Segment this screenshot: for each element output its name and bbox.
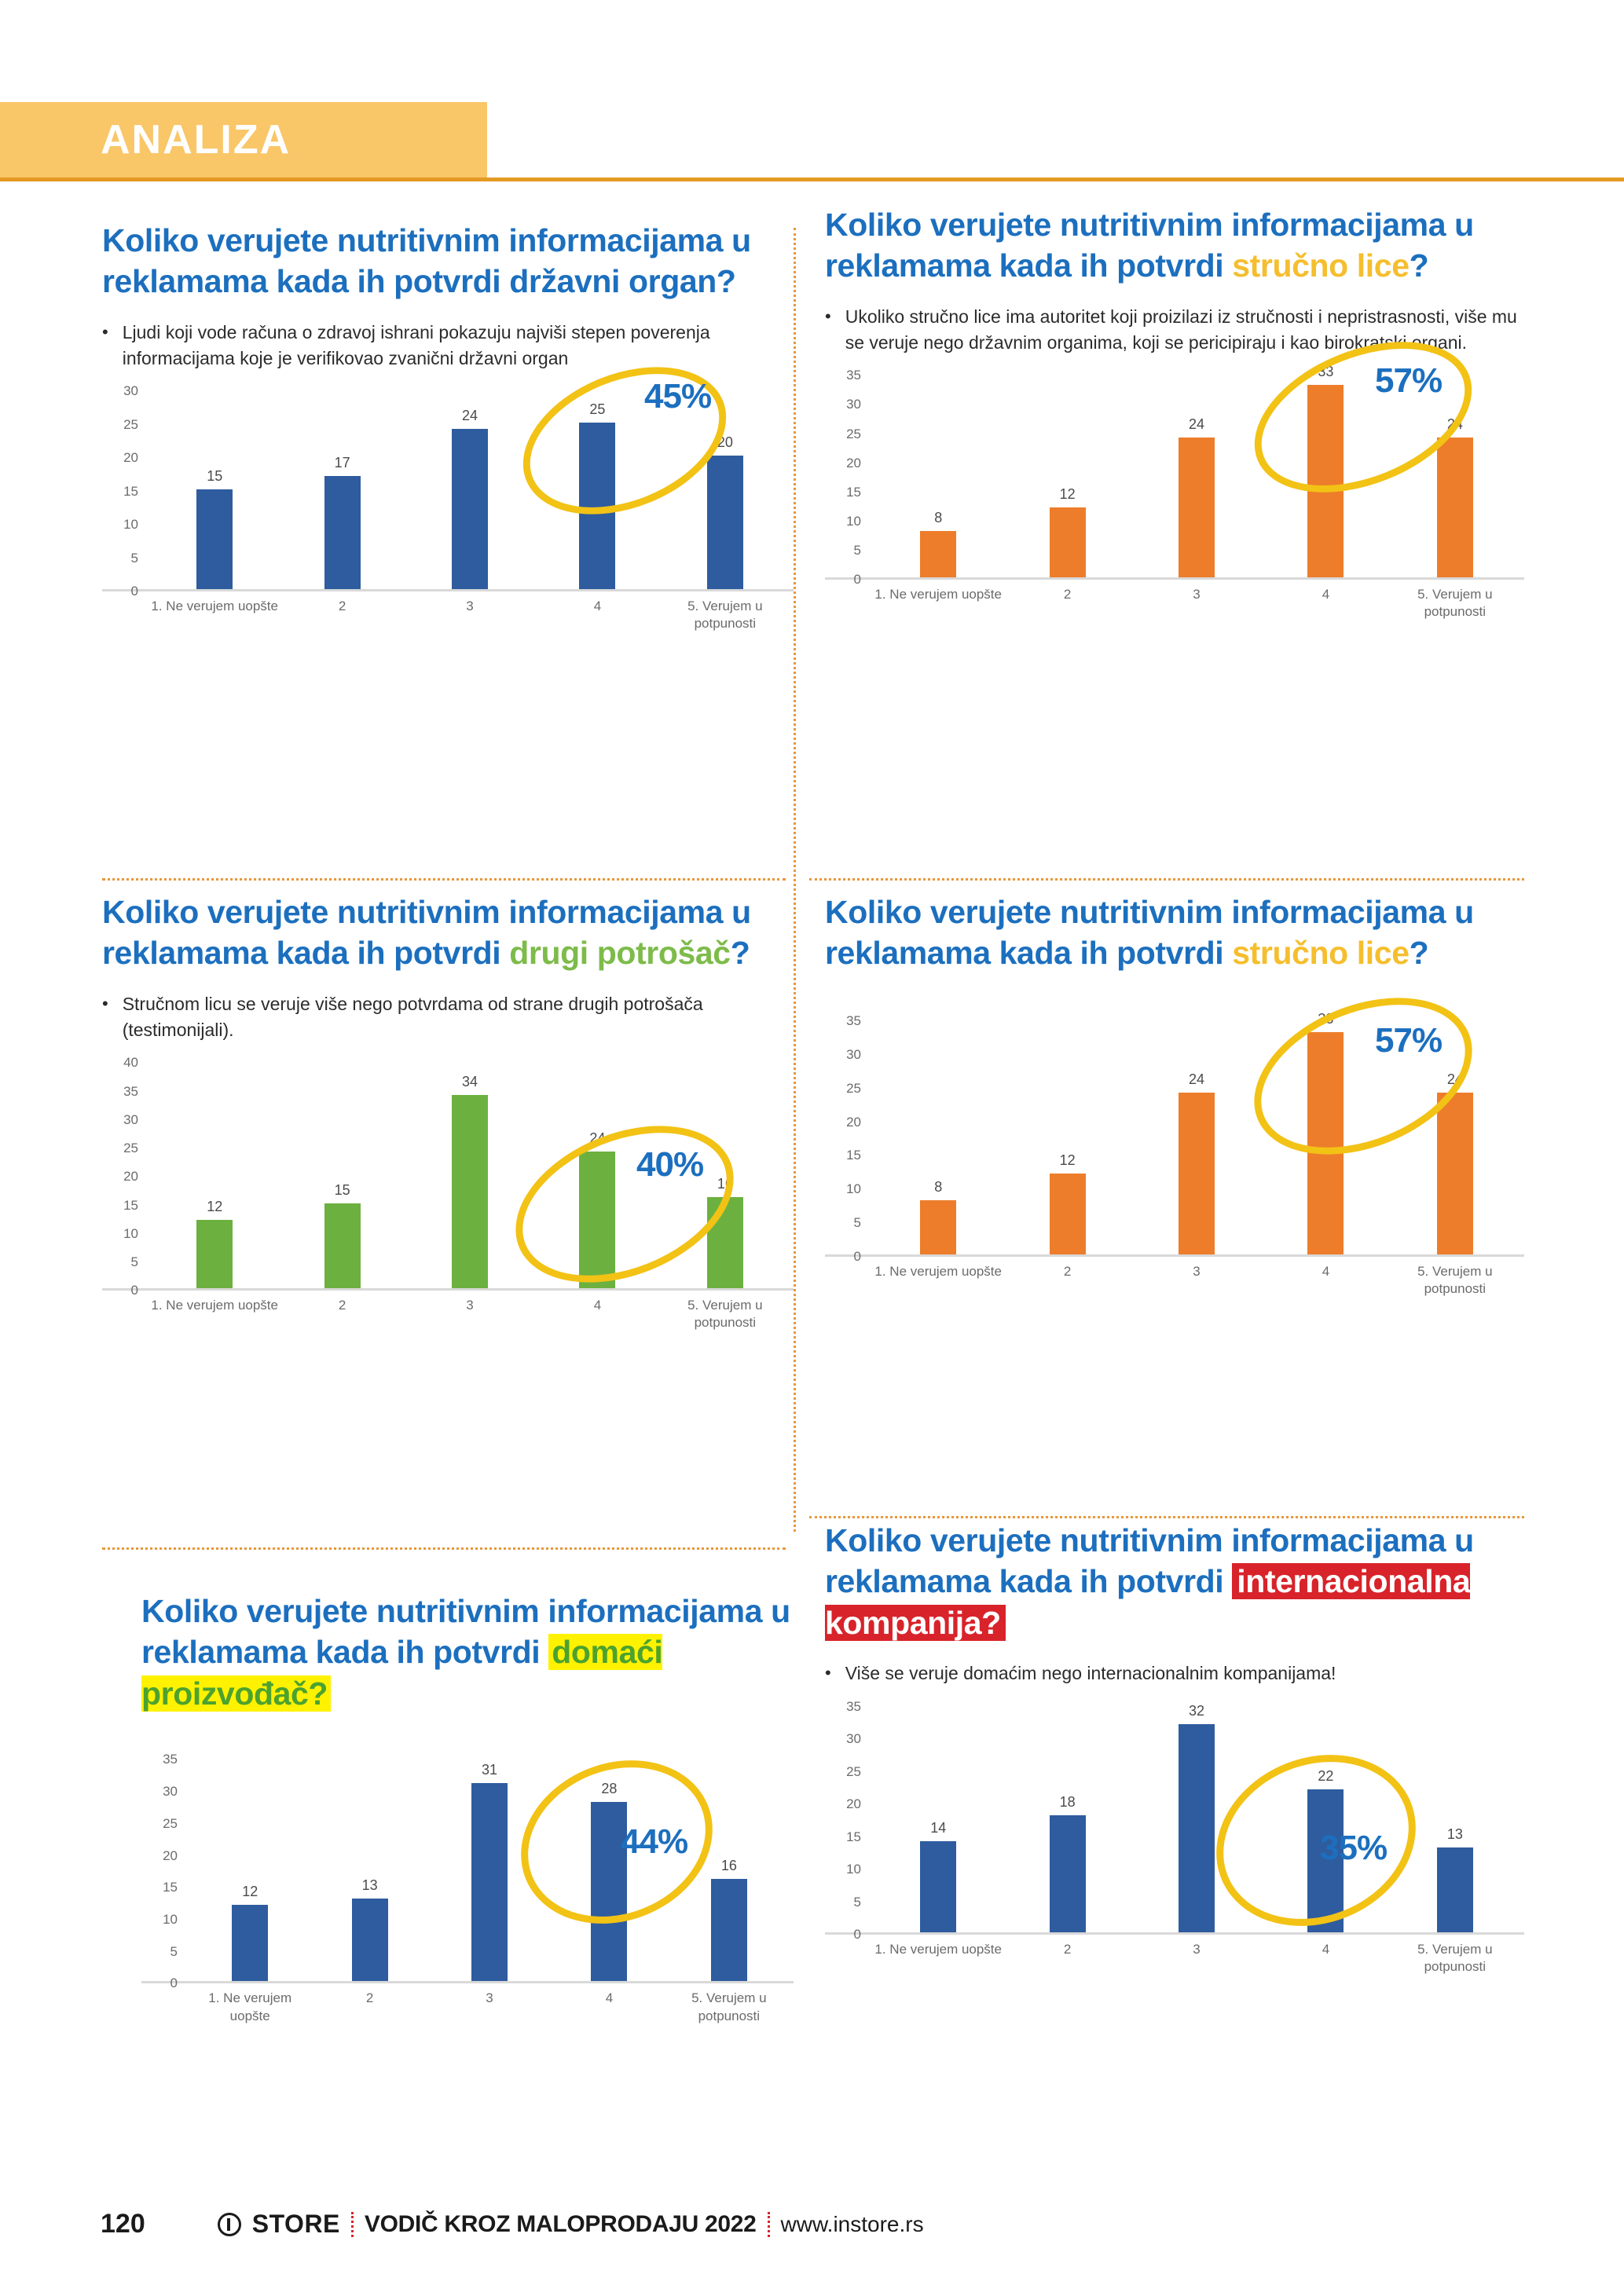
footer-guide-text: VODIČ KROZ MALOPRODAJU 2022 [365, 2211, 757, 2238]
y-axis-tick-label: 0 [854, 1249, 861, 1265]
bar-group[interactable]: 20 [662, 391, 789, 589]
bar-group[interactable]: 15 [151, 391, 278, 589]
chart-1-bars: 1517242520 [151, 391, 789, 589]
x-axis-tick-label: 2 [1003, 1263, 1131, 1298]
x-axis-tick-label: 5. Verujem u potpunosti [669, 1990, 789, 2024]
bar[interactable] [196, 489, 233, 590]
y-axis-tick-label: 25 [123, 417, 138, 433]
y-axis-tick-label: 0 [854, 572, 861, 588]
chart-2-plot: 05101520253035 812243324 [825, 375, 1524, 580]
x-axis-tick-label: 3 [1132, 586, 1261, 621]
page-title: ANALIZA [101, 116, 291, 163]
bar-value-label: 28 [601, 1781, 617, 1797]
bar[interactable] [324, 1203, 361, 1289]
y-axis-tick-label: 30 [846, 1731, 861, 1747]
charts-grid: Koliko verujete nutritivnim informacijam… [102, 220, 1524, 2168]
bar-group[interactable]: 13 [1391, 1707, 1520, 1932]
x-axis-tick-label: 1. Ne verujem uopšte [151, 1297, 278, 1331]
x-axis-tick-label: 4 [533, 1297, 661, 1331]
y-axis-tick-label: 5 [854, 1895, 861, 1910]
bar-group[interactable]: 34 [406, 1063, 533, 1288]
bar-group[interactable]: 17 [278, 391, 405, 589]
chart-5-bars: 1213312816 [190, 1760, 789, 1981]
chart-4-y-axis: 05101520253035 [825, 1021, 869, 1254]
chart-5-percent-annotation: 44% [621, 1822, 687, 1862]
y-axis-tick-label: 10 [163, 1912, 178, 1928]
chart-5-plot: 05101520253035 1213312816 [141, 1760, 794, 1983]
y-axis-tick-label: 10 [846, 1862, 861, 1877]
chart-6-bars: 1418322213 [874, 1707, 1520, 1932]
chart-2-y-axis: 05101520253035 [825, 375, 869, 577]
bar[interactable] [920, 531, 956, 577]
bar-value-label: 17 [335, 455, 350, 471]
bar-value-label: 22 [1318, 1768, 1333, 1785]
bar[interactable] [1179, 1093, 1215, 1254]
y-axis-tick-label: 30 [846, 397, 861, 412]
bar[interactable] [1437, 1093, 1473, 1254]
bar-value-label: 14 [930, 1820, 946, 1836]
x-axis-tick-label: 2 [1003, 586, 1131, 621]
column-separator [794, 228, 796, 1532]
x-axis-tick-label: 4 [1261, 1941, 1390, 1976]
bullet-dot-icon: • [825, 304, 831, 355]
x-axis-tick-label: 2 [310, 1990, 429, 2024]
bar[interactable] [707, 1197, 743, 1288]
bar[interactable] [1179, 1724, 1215, 1932]
bar-group[interactable]: 8 [874, 1021, 1003, 1254]
bar[interactable] [1437, 1847, 1473, 1932]
bar[interactable] [579, 423, 615, 590]
y-axis-tick-label: 20 [163, 1848, 178, 1864]
y-axis-tick-label: 20 [846, 1796, 861, 1812]
chart-6-bullet: • Više se veruje domaćim nego internacio… [825, 1661, 1524, 1686]
bar-value-label: 15 [335, 1182, 350, 1199]
bullet-dot-icon: • [102, 320, 108, 371]
bar-value-label: 24 [462, 408, 478, 424]
chart-1: 051015202530 1517242520 1. Ne verujem uo… [102, 391, 794, 627]
bar[interactable] [1050, 507, 1086, 577]
chart-1-percent-annotation: 45% [644, 377, 711, 416]
x-axis-tick-label: 3 [406, 598, 533, 632]
chart-5-y-axis: 05101520253035 [141, 1760, 185, 1981]
x-axis-tick-label: 1. Ne verujem uopšte [874, 1941, 1003, 1976]
y-axis-tick-label: 15 [123, 1198, 138, 1214]
bar[interactable] [452, 1095, 488, 1289]
bar-group[interactable]: 24 [1391, 375, 1520, 577]
x-axis-tick-label: 2 [278, 1297, 405, 1331]
bar[interactable] [196, 1220, 233, 1288]
x-axis-tick-label: 5. Verujem u potpunosti [1391, 1941, 1520, 1976]
chart-panel-3: Koliko verujete nutritivnim informacijam… [102, 892, 794, 1567]
section-header-band: ANALIZA [0, 102, 487, 178]
x-axis-tick-label: 3 [406, 1297, 533, 1331]
y-axis-tick-label: 35 [163, 1752, 178, 1767]
y-axis-tick-label: 10 [846, 1181, 861, 1197]
bar-group[interactable]: 24 [1132, 375, 1261, 577]
bar-value-label: 18 [1060, 1794, 1076, 1811]
y-axis-tick-label: 30 [123, 1112, 138, 1128]
bar[interactable] [1050, 1174, 1086, 1254]
bar-group[interactable]: 16 [669, 1760, 789, 1981]
chart-4-percent-annotation: 57% [1375, 1021, 1442, 1060]
chart-5-title: Koliko verujete nutritivnim informacijam… [141, 1591, 794, 1714]
bar-value-label: 8 [934, 1179, 942, 1196]
x-axis-tick-label: 4 [549, 1990, 669, 2024]
y-axis-tick-label: 30 [163, 1784, 178, 1800]
bar[interactable] [324, 476, 361, 590]
y-axis-tick-label: 5 [170, 1944, 178, 1960]
bar-value-label: 24 [1189, 416, 1204, 433]
y-axis-tick-label: 15 [846, 1829, 861, 1845]
chart-3: 0510152025303540 1215342416 1. Ne veruje… [102, 1063, 794, 1322]
bar-group[interactable]: 8 [874, 375, 1003, 577]
chart-3-percent-annotation: 40% [636, 1145, 703, 1185]
bar-value-label: 24 [1447, 416, 1463, 433]
chart-2-bars: 812243324 [874, 375, 1520, 577]
chart-4: 05101520253035 812243324 1. Ne verujem u… [825, 1021, 1524, 1280]
row-separator-top-right [809, 878, 1524, 881]
y-axis-tick-label: 0 [170, 1976, 178, 1991]
x-axis-tick-label: 3 [430, 1990, 549, 2024]
y-axis-tick-label: 0 [131, 1283, 138, 1298]
y-axis-tick-label: 10 [123, 1226, 138, 1242]
x-axis-tick-label: 5. Verujem u potpunosti [1391, 586, 1520, 621]
bar-value-label: 24 [589, 1130, 605, 1147]
y-axis-tick-label: 25 [846, 1764, 861, 1780]
bar-value-label: 16 [717, 1176, 733, 1192]
bar[interactable] [920, 1841, 956, 1932]
bar-group[interactable]: 12 [1003, 375, 1131, 577]
bar-group[interactable]: 33 [1261, 375, 1390, 577]
bar-group[interactable]: 12 [151, 1063, 278, 1288]
bar-group[interactable]: 15 [278, 1063, 405, 1288]
x-axis-tick-label: 1. Ne verujem uopšte [874, 1263, 1003, 1298]
bar-value-label: 33 [1318, 364, 1333, 380]
y-axis-tick-label: 5 [131, 1254, 138, 1270]
x-axis-tick-label: 4 [533, 598, 661, 632]
chart-panel-1: Koliko verujete nutritivnim informacijam… [102, 220, 794, 864]
chart-3-y-axis: 0510152025303540 [102, 1063, 146, 1288]
y-axis-tick-label: 20 [123, 450, 138, 466]
y-axis-tick-label: 0 [854, 1927, 861, 1943]
bar-value-label: 24 [1189, 1071, 1204, 1088]
chart-1-x-labels: 1. Ne verujem uopšte2345. Verujem u potp… [151, 598, 789, 632]
bar-value-label: 13 [362, 1877, 378, 1894]
x-axis-tick-label: 3 [1132, 1941, 1261, 1976]
chart-6-title: Koliko verujete nutritivnim informacijam… [825, 1520, 1524, 1643]
chart-3-bullet: • Stručnom licu se veruje više nego potv… [102, 991, 794, 1042]
bar-value-label: 16 [721, 1858, 737, 1874]
bar-group[interactable]: 24 [406, 391, 533, 589]
x-axis-tick-label: 5. Verujem u potpunosti [662, 598, 789, 632]
bar-group[interactable]: 32 [1132, 1707, 1261, 1932]
bar-value-label: 24 [1447, 1071, 1463, 1088]
bar-group[interactable]: 18 [1003, 1707, 1131, 1932]
bullet-dot-icon: • [825, 1661, 831, 1686]
y-axis-tick-label: 20 [846, 1115, 861, 1130]
bar-group[interactable]: 12 [1003, 1021, 1131, 1254]
y-axis-tick-label: 15 [846, 485, 861, 500]
y-axis-tick-label: 10 [846, 514, 861, 529]
bar-group[interactable]: 14 [874, 1707, 1003, 1932]
bar-group[interactable]: 24 [1132, 1021, 1261, 1254]
chart-panel-4: Koliko verujete nutritivnim informacijam… [825, 892, 1524, 1567]
bar[interactable] [1437, 438, 1473, 577]
bar-value-label: 12 [1060, 486, 1076, 503]
bar-value-label: 12 [207, 1199, 222, 1215]
chart-1-title: Koliko verujete nutritivnim informacijam… [102, 220, 794, 302]
chart-4-title: Koliko verujete nutritivnim informacijam… [825, 892, 1524, 974]
y-axis-tick-label: 15 [123, 484, 138, 500]
bar[interactable] [1050, 1815, 1086, 1932]
chart-6-y-axis: 05101520253035 [825, 1707, 869, 1932]
bar-value-label: 8 [934, 510, 942, 526]
chart-panel-6: Koliko verujete nutritivnim informacijam… [825, 1520, 1524, 2172]
chart-5: 05101520253035 1213312816 1. Ne verujem … [141, 1760, 794, 2019]
bar[interactable] [1179, 438, 1215, 577]
chart-2: 05101520253035 812243324 1. Ne verujem u… [825, 375, 1524, 611]
bar-value-label: 13 [1447, 1826, 1463, 1843]
chart-6-plot: 05101520253035 1418322213 [825, 1707, 1524, 1935]
chart-5-x-labels: 1. Ne verujem uopšte2345. Verujem u potp… [190, 1990, 789, 2024]
chart-6-percent-annotation: 35% [1320, 1829, 1387, 1868]
footer-url: www.instore.rs [781, 2212, 924, 2237]
y-axis-tick-label: 15 [846, 1148, 861, 1163]
chart-1-plot: 051015202530 1517242520 [102, 391, 794, 591]
y-axis-tick-label: 25 [846, 1081, 861, 1097]
bar-value-label: 31 [482, 1762, 497, 1778]
y-axis-tick-label: 35 [846, 368, 861, 383]
y-axis-tick-label: 25 [846, 427, 861, 442]
y-axis-tick-label: 20 [123, 1169, 138, 1185]
bar-value-label: 25 [589, 401, 605, 418]
chart-3-title: Koliko verujete nutritivnim informacijam… [102, 892, 794, 974]
y-axis-tick-label: 5 [131, 551, 138, 566]
bar[interactable] [232, 1905, 268, 1982]
y-axis-tick-label: 10 [123, 517, 138, 533]
page-footer: 120 STORE VODIČ KROZ MALOPRODAJU 2022 ww… [0, 2209, 1624, 2239]
x-axis-tick-label: 5. Verujem u potpunosti [1391, 1263, 1520, 1298]
y-axis-tick-label: 40 [123, 1055, 138, 1071]
header-divider-rule [0, 178, 1624, 181]
y-axis-tick-label: 35 [846, 1013, 861, 1029]
x-axis-tick-label: 1. Ne verujem uopšte [874, 586, 1003, 621]
x-axis-tick-label: 1. Ne verujem uopšte [151, 598, 278, 632]
chart-6: 05101520253035 1418322213 1. Ne verujem … [825, 1707, 1524, 1966]
bar-group[interactable]: 22 [1261, 1707, 1390, 1932]
bar-group[interactable]: 13 [310, 1760, 429, 1981]
chart-6-x-labels: 1. Ne verujem uopšte2345. Verujem u potp… [874, 1941, 1520, 1976]
chart-4-x-labels: 1. Ne verujem uopšte2345. Verujem u potp… [874, 1263, 1520, 1298]
y-axis-tick-label: 25 [163, 1816, 178, 1832]
bar-value-label: 33 [1318, 1011, 1333, 1027]
y-axis-tick-label: 15 [163, 1880, 178, 1895]
page-root: ANALIZA Koliko verujete nutritivnim info… [0, 0, 1624, 2296]
row-separator-top-left [102, 878, 786, 881]
chart-1-y-axis: 051015202530 [102, 391, 146, 589]
chart-3-x-labels: 1. Ne verujem uopšte2345. Verujem u potp… [151, 1297, 789, 1331]
chart-2-x-labels: 1. Ne verujem uopšte2345. Verujem u potp… [874, 586, 1520, 621]
chart-panel-2: Koliko verujete nutritivnim informacijam… [825, 204, 1524, 864]
bar[interactable] [452, 429, 488, 589]
chart-2-bullet: • Ukoliko stručno lice ima autoritet koj… [825, 304, 1524, 355]
bar-value-label: 20 [717, 434, 733, 451]
bar-group[interactable]: 31 [430, 1760, 549, 1981]
bar-group[interactable]: 12 [190, 1760, 310, 1981]
y-axis-tick-label: 20 [846, 456, 861, 471]
bar-group[interactable]: 28 [549, 1760, 669, 1981]
bar-value-label: 32 [1189, 1703, 1204, 1719]
bullet-text: Ukoliko stručno lice ima autoritet koji … [845, 304, 1524, 355]
bar[interactable] [707, 456, 743, 589]
bullet-text: Stručnom licu se veruje više nego potvrd… [123, 991, 794, 1042]
y-axis-tick-label: 5 [854, 543, 861, 558]
y-axis-tick-label: 25 [123, 1141, 138, 1156]
bullet-dot-icon: • [102, 991, 108, 1042]
y-axis-tick-label: 30 [846, 1047, 861, 1063]
chart-2-title: Koliko verujete nutritivnim informacijam… [825, 204, 1524, 287]
instore-logo-icon [218, 2213, 241, 2236]
bar-group[interactable]: 33 [1261, 1021, 1390, 1254]
y-axis-tick-label: 35 [846, 1699, 861, 1715]
chart-2-percent-annotation: 57% [1375, 361, 1442, 401]
brand-lockup: STORE [218, 2210, 340, 2239]
bar[interactable] [471, 1783, 508, 1981]
chart-panel-5: Koliko verujete nutritivnim informacijam… [141, 1591, 794, 2172]
y-axis-tick-label: 0 [131, 584, 138, 599]
chart-1-bullet: • Ljudi koji vode računa o zdravoj ishra… [102, 320, 794, 371]
x-axis-tick-label: 3 [1132, 1263, 1261, 1298]
bullet-text: Više se veruje domaćim nego internaciona… [845, 1661, 1524, 1686]
bar-value-label: 12 [242, 1884, 258, 1900]
x-axis-tick-label: 4 [1261, 586, 1390, 621]
bullet-text: Ljudi koji vode računa o zdravoj ishrani… [123, 320, 794, 371]
bar-value-label: 12 [1060, 1152, 1076, 1169]
bar[interactable] [1307, 1032, 1344, 1254]
footer-divider-1 [351, 2212, 354, 2237]
y-axis-tick-label: 5 [854, 1215, 861, 1231]
bar[interactable] [352, 1899, 388, 1982]
bar[interactable] [711, 1879, 747, 1981]
x-axis-tick-label: 2 [1003, 1941, 1131, 1976]
y-axis-tick-label: 35 [123, 1084, 138, 1100]
brand-name: STORE [252, 2210, 340, 2239]
y-axis-tick-label: 30 [123, 383, 138, 399]
bar[interactable] [579, 1152, 615, 1288]
bar[interactable] [920, 1200, 956, 1254]
bar[interactable] [1307, 385, 1344, 577]
x-axis-tick-label: 5. Verujem u potpunosti [662, 1297, 789, 1331]
page-number: 120 [101, 2209, 145, 2239]
bar-group[interactable]: 25 [533, 391, 661, 589]
bar-value-label: 15 [207, 468, 222, 485]
x-axis-tick-label: 2 [278, 598, 405, 632]
footer-divider-2 [768, 2212, 770, 2237]
x-axis-tick-label: 1. Ne verujem uopšte [190, 1990, 310, 2024]
bar-value-label: 34 [462, 1074, 478, 1090]
x-axis-tick-label: 4 [1261, 1263, 1390, 1298]
